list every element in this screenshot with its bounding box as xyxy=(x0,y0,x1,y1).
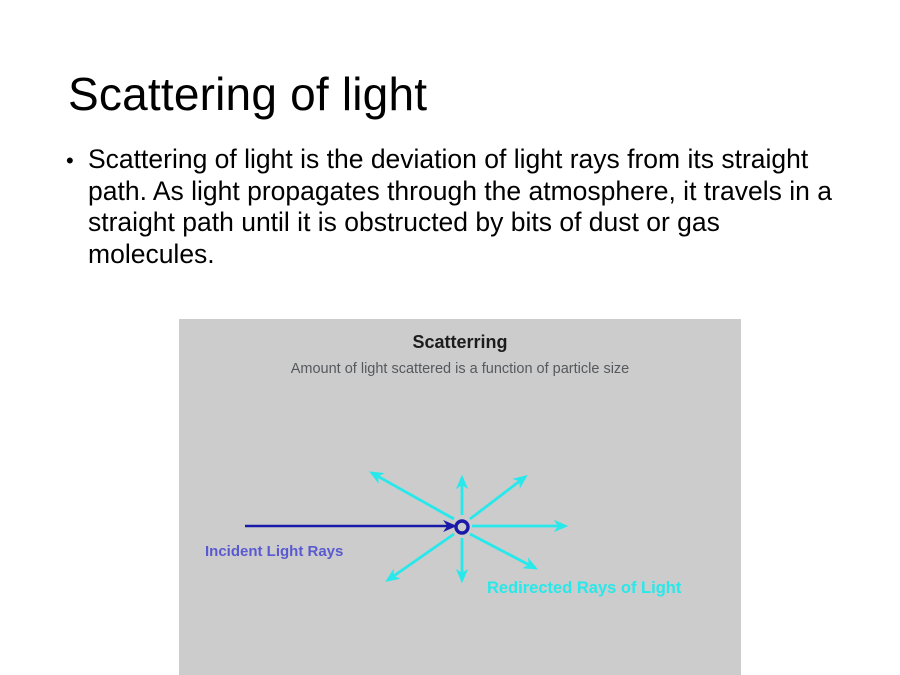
bullet-marker-icon: • xyxy=(66,144,88,177)
scattered-ray-down-left xyxy=(388,534,454,580)
bullet-text: Scattering of light is the deviation of … xyxy=(88,144,833,270)
particle-icon xyxy=(456,521,468,533)
scattering-diagram-image: Scatterring Amount of light scattered is… xyxy=(179,319,741,675)
list-item: • Scattering of light is the deviation o… xyxy=(66,144,856,270)
redirected-rays-label: Redirected Rays of Light xyxy=(487,579,681,598)
scattered-ray-down-right xyxy=(470,534,535,568)
incident-rays-label: Incident Light Rays xyxy=(205,543,343,560)
ray-diagram xyxy=(179,319,741,675)
scattered-ray-up-right xyxy=(470,477,525,519)
scattered-ray-up-left xyxy=(372,473,454,519)
slide-title: Scattering of light xyxy=(68,66,427,122)
slide-body: • Scattering of light is the deviation o… xyxy=(66,144,856,270)
